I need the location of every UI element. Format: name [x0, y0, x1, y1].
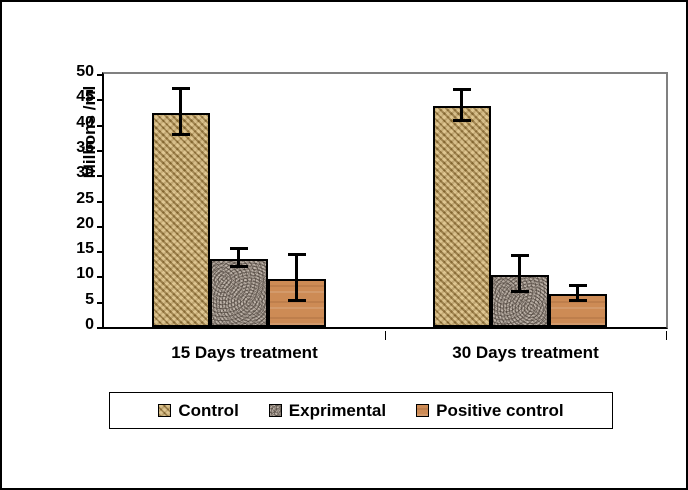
- error-bar: [569, 287, 587, 327]
- error-bar: [230, 250, 248, 327]
- error-bar-stem: [518, 257, 521, 293]
- x-axis-separator: [666, 331, 667, 340]
- y-axis-tick: [97, 175, 104, 177]
- error-bar: [453, 91, 471, 327]
- error-bar-cap-lower: [511, 290, 529, 293]
- y-axis-tick-label: 25: [54, 191, 94, 207]
- error-bar: [288, 256, 306, 327]
- error-bar-cap-lower: [172, 133, 190, 136]
- y-axis-tick-label: 0: [54, 317, 94, 333]
- y-axis-tick-label: 10: [54, 266, 94, 282]
- legend-swatch-icon: [158, 404, 171, 417]
- error-bar-cap-upper: [172, 87, 190, 90]
- y-axis-tick: [97, 302, 104, 304]
- y-axis-tick-label: 15: [54, 241, 94, 257]
- legend-item[interactable]: Control: [158, 401, 238, 421]
- y-axis-tick: [97, 150, 104, 152]
- error-bar: [511, 257, 529, 327]
- error-bar-cap-upper: [453, 88, 471, 91]
- error-bar-cap-upper: [511, 254, 529, 257]
- y-axis-tick-label: 45: [54, 89, 94, 105]
- error-bar-stem: [179, 90, 182, 136]
- legend-swatch-icon: [416, 404, 429, 417]
- error-bar-cap-upper: [569, 284, 587, 287]
- y-axis-tick-label: 20: [54, 216, 94, 232]
- error-bar-cap-upper: [288, 253, 306, 256]
- y-axis-tick: [97, 251, 104, 253]
- plot-area: [102, 72, 668, 329]
- y-axis-tick-label: 5: [54, 292, 94, 308]
- y-axis-tick-label: 35: [54, 140, 94, 156]
- chart-legend: ControlExprimentalPositive control: [109, 392, 613, 429]
- x-axis-category-label: 15 Days treatment: [104, 343, 385, 363]
- y-axis-tick: [97, 99, 104, 101]
- x-axis-separator: [385, 331, 386, 340]
- legend-item[interactable]: Exprimental: [269, 401, 386, 421]
- legend-label: Exprimental: [289, 401, 386, 421]
- error-bar-cap-lower: [569, 299, 587, 302]
- y-axis-tick: [97, 125, 104, 127]
- y-axis-tick: [97, 74, 104, 76]
- y-axis-tick-labels: 50454035302520151050: [52, 72, 94, 329]
- y-axis-tick-label: 50: [54, 64, 94, 80]
- error-bar-stem: [460, 91, 463, 122]
- legend-label: Positive control: [436, 401, 564, 421]
- legend-swatch-icon: [269, 404, 282, 417]
- legend-item[interactable]: Positive control: [416, 401, 564, 421]
- legend-label: Control: [178, 401, 238, 421]
- y-axis-tick: [97, 226, 104, 228]
- error-bar-cap-lower: [453, 119, 471, 122]
- x-axis-category-label: 30 Days treatment: [385, 343, 666, 363]
- error-bar-stem: [295, 256, 298, 302]
- bar-chart-figure: Millions /ml 50454035302520151050 15 Day…: [0, 0, 688, 490]
- error-bar: [172, 90, 190, 327]
- y-axis-tick-label: 30: [54, 165, 94, 181]
- error-bar-cap-upper: [230, 247, 248, 250]
- y-axis-tick: [97, 327, 104, 329]
- y-axis-tick: [97, 276, 104, 278]
- y-axis-tick-label: 40: [54, 115, 94, 131]
- error-bar-cap-lower: [288, 299, 306, 302]
- error-bar-cap-lower: [230, 265, 248, 268]
- y-axis-tick: [97, 201, 104, 203]
